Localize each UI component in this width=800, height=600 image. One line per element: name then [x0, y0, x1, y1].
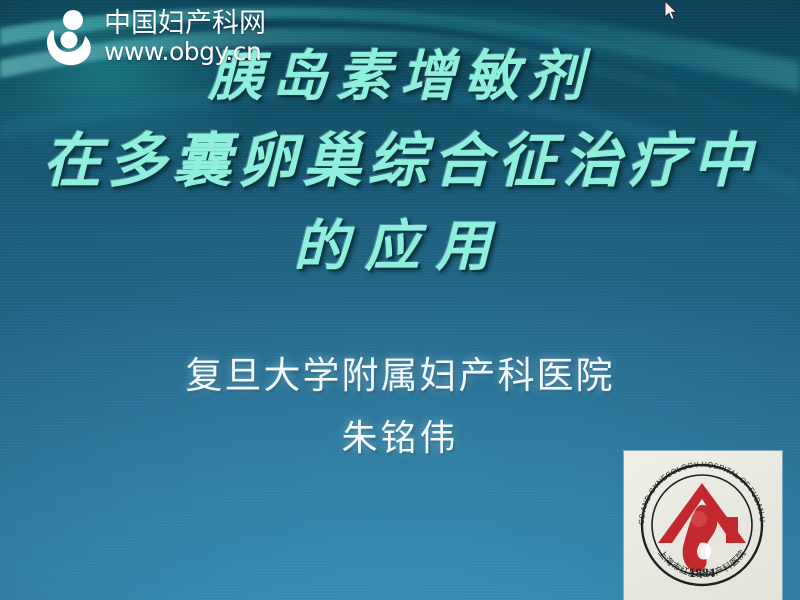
watermark-site-url: www.obgy.cn — [104, 39, 266, 64]
slide-title: 胰岛素增敏剂 在多囊卵巢综合征治疗中 的应用 — [0, 34, 800, 288]
title-line-3: 的应用 — [0, 204, 800, 288]
watermark-site-name: 中国妇产科网 — [104, 10, 266, 37]
mouse-pointer-cursor — [664, 0, 678, 22]
hospital-emblem: OBSTETRICS AND GYNECOLOGY HOSPITAL OF FU… — [624, 451, 782, 600]
mother-and-baby-logo-icon — [44, 9, 96, 67]
emblem-founded-year: 1884 — [689, 565, 716, 580]
title-line-2: 在多囊卵巢综合征治疗中 — [0, 118, 800, 204]
presenter-block: 复旦大学附属妇产科医院 朱铭伟 — [0, 352, 800, 462]
organization-name: 复旦大学附属妇产科医院 — [0, 352, 800, 400]
hospital-emblem-icon: OBSTETRICS AND GYNECOLOGY HOSPITAL OF FU… — [626, 451, 778, 599]
site-watermark: 中国妇产科网 www.obgy.cn — [44, 5, 266, 67]
presentation-slide: 中国妇产科网 www.obgy.cn 胰岛素增敏剂 在多囊卵巢综合征治疗中 的应… — [0, 0, 800, 600]
